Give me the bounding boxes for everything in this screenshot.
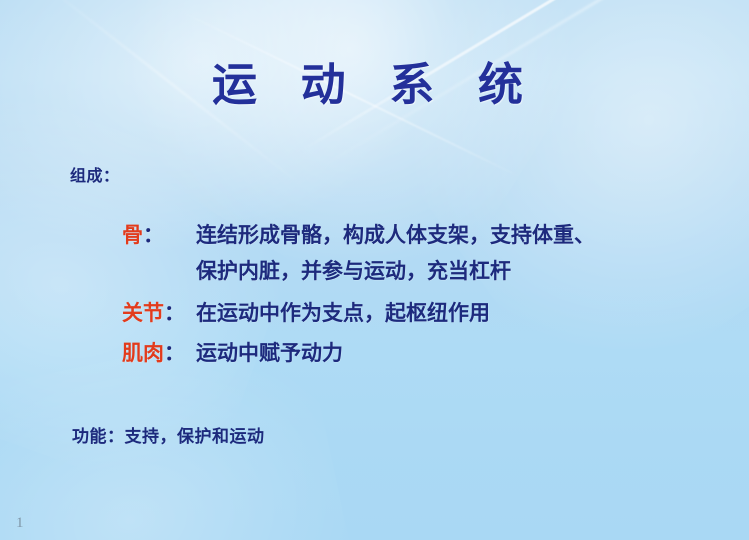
- term-text-muscle: 肌肉: [122, 341, 164, 365]
- composition-list: 骨： 连结形成骨骼，构成人体支架，支持体重、 保护内脏，并参与运动，充当杠杆 关…: [122, 218, 722, 370]
- term-label-bone: 骨：: [122, 218, 196, 252]
- term-text-bone: 骨: [122, 223, 143, 247]
- page-number: 1: [16, 515, 24, 532]
- list-item-bone: 骨： 连结形成骨骼，构成人体支架，支持体重、: [122, 218, 722, 252]
- list-item-bone-continued: 保护内脏，并参与运动，充当杠杆: [122, 254, 722, 288]
- description-bone-line1: 连结形成骨骼，构成人体支架，支持体重、: [196, 218, 595, 252]
- list-item-joint: 关节： 在运动中作为支点，起枢纽作用: [122, 296, 722, 330]
- slide-title: 运 动 系 统: [0, 48, 749, 113]
- term-colon-muscle: ：: [164, 341, 185, 365]
- description-muscle: 运动中赋予动力: [196, 336, 343, 370]
- term-text-joint: 关节: [122, 301, 164, 325]
- description-joint: 在运动中作为支点，起枢纽作用: [196, 296, 490, 330]
- description-bone-line2: 保护内脏，并参与运动，充当杠杆: [196, 254, 511, 288]
- composition-label: 组成：: [70, 162, 120, 186]
- list-item-muscle: 肌肉： 运动中赋予动力: [122, 336, 722, 370]
- term-colon-bone: ：: [143, 223, 164, 247]
- slide-canvas: 运 动 系 统 组成： 骨： 连结形成骨骼，构成人体支架，支持体重、 保护内脏，…: [0, 0, 749, 540]
- function-summary: 功能：支持，保护和运动: [72, 422, 265, 447]
- slide-content: 运 动 系 统 组成： 骨： 连结形成骨骼，构成人体支架，支持体重、 保护内脏，…: [0, 0, 749, 540]
- term-colon-joint: ：: [164, 301, 185, 325]
- term-label-joint: 关节：: [122, 296, 196, 330]
- term-label-muscle: 肌肉：: [122, 336, 196, 370]
